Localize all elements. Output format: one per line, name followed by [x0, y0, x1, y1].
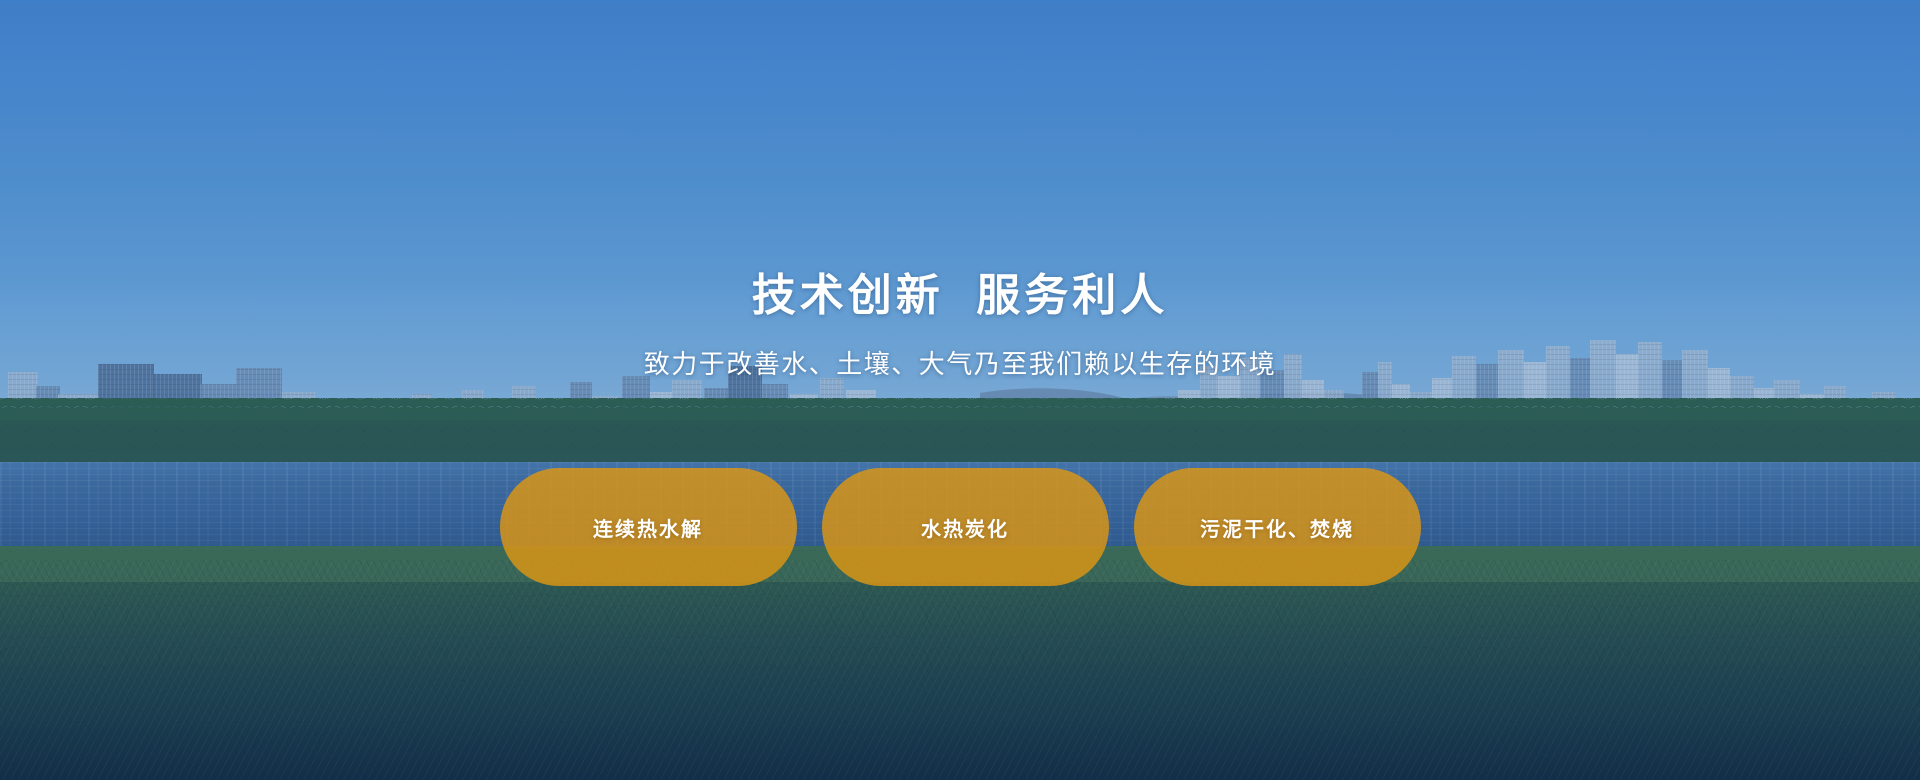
- hero-content: 技术创新 服务利人 致力于改善水、土壤、大气乃至我们赖以生存的环境 连续热水解 …: [0, 0, 1920, 780]
- category-button-row: 连续热水解 水热炭化 污泥干化、焚烧: [0, 468, 1920, 586]
- page-subtitle: 致力于改善水、土壤、大气乃至我们赖以生存的环境: [0, 348, 1920, 382]
- category-button-sludge-drying-incineration[interactable]: 污泥干化、焚烧: [1134, 468, 1421, 586]
- page-title: 技术创新 服务利人: [0, 270, 1920, 322]
- category-button-continuous-thermal-hydrolysis[interactable]: 连续热水解: [500, 468, 797, 586]
- category-button-hydrothermal-carbonization[interactable]: 水热炭化: [822, 468, 1109, 586]
- hero-banner: 技术创新 服务利人 致力于改善水、土壤、大气乃至我们赖以生存的环境 连续热水解 …: [0, 0, 1920, 780]
